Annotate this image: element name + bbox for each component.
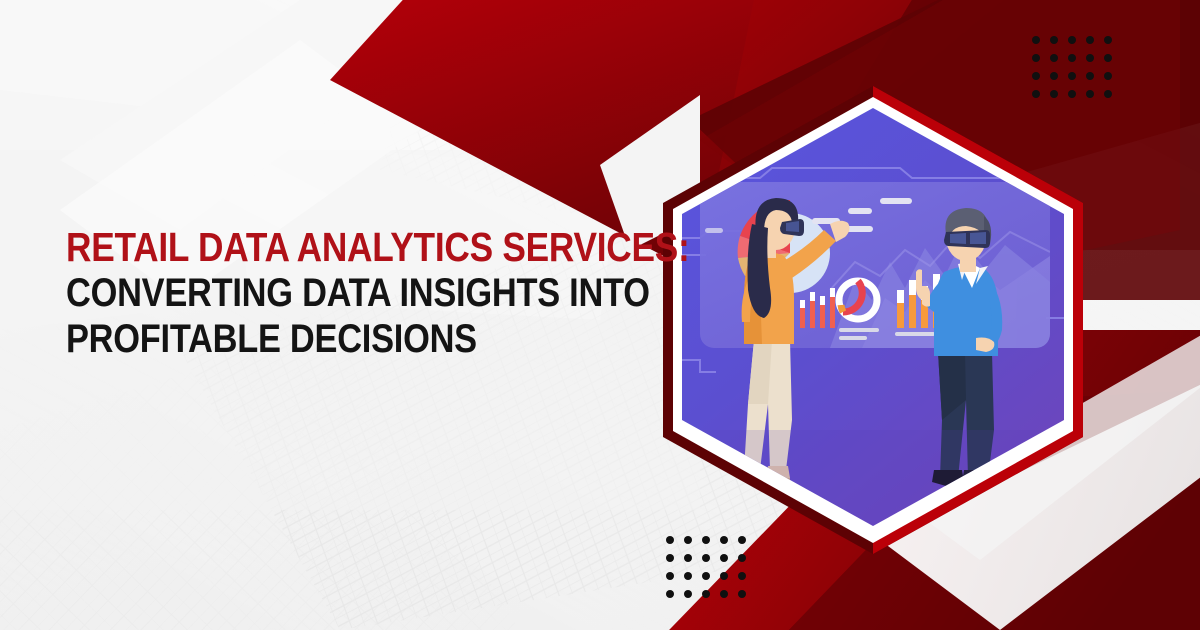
- grid-dot: [720, 590, 728, 598]
- grid-dot: [1050, 36, 1058, 44]
- grid-dot: [720, 554, 728, 562]
- grid-dot: [702, 590, 710, 598]
- dot-grid-bottom-left: [666, 536, 746, 598]
- grid-dot: [1104, 36, 1112, 44]
- grid-dot: [1032, 72, 1040, 80]
- grid-dot: [1050, 90, 1058, 98]
- grid-dot: [738, 572, 746, 580]
- grid-dot: [1032, 90, 1040, 98]
- grid-dot: [684, 572, 692, 580]
- grid-dot: [1068, 54, 1076, 62]
- grid-dot: [738, 554, 746, 562]
- grid-dot: [1032, 36, 1040, 44]
- grid-dot: [702, 572, 710, 580]
- grid-dot: [1086, 36, 1094, 44]
- grid-dot: [684, 554, 692, 562]
- grid-dot: [702, 554, 710, 562]
- grid-dot: [666, 590, 674, 598]
- grid-dot: [1086, 54, 1094, 62]
- grid-dot: [1104, 72, 1112, 80]
- grid-dot: [1032, 54, 1040, 62]
- title-line-3: Profitable Decisions: [66, 316, 565, 362]
- grid-dot: [666, 572, 674, 580]
- grid-dot: [738, 590, 746, 598]
- grid-dot: [666, 554, 674, 562]
- grid-dot: [1050, 72, 1058, 80]
- grid-dot: [1068, 90, 1076, 98]
- grid-dot: [738, 536, 746, 544]
- grid-dot: [1050, 54, 1058, 62]
- grid-dot: [702, 536, 710, 544]
- dot-grid-top-right: [1032, 36, 1112, 98]
- grid-dot: [720, 572, 728, 580]
- grid-dot: [1104, 90, 1112, 98]
- grid-dot: [1086, 72, 1094, 80]
- grid-dot: [684, 536, 692, 544]
- title-line-1: Retail Data Analytics Services:: [66, 224, 565, 270]
- grid-dot: [1086, 90, 1094, 98]
- grid-dot: [666, 536, 674, 544]
- title-line-2: Converting Data Insights Into: [66, 270, 565, 316]
- grid-dot: [1104, 54, 1112, 62]
- grid-dot: [1068, 36, 1076, 44]
- grid-dot: [720, 536, 728, 544]
- page-title: Retail Data Analytics Services: Converti…: [66, 224, 646, 362]
- banner-root: Retail Data Analytics Services: Converti…: [0, 0, 1200, 630]
- grid-dot: [1068, 72, 1076, 80]
- grid-dot: [684, 590, 692, 598]
